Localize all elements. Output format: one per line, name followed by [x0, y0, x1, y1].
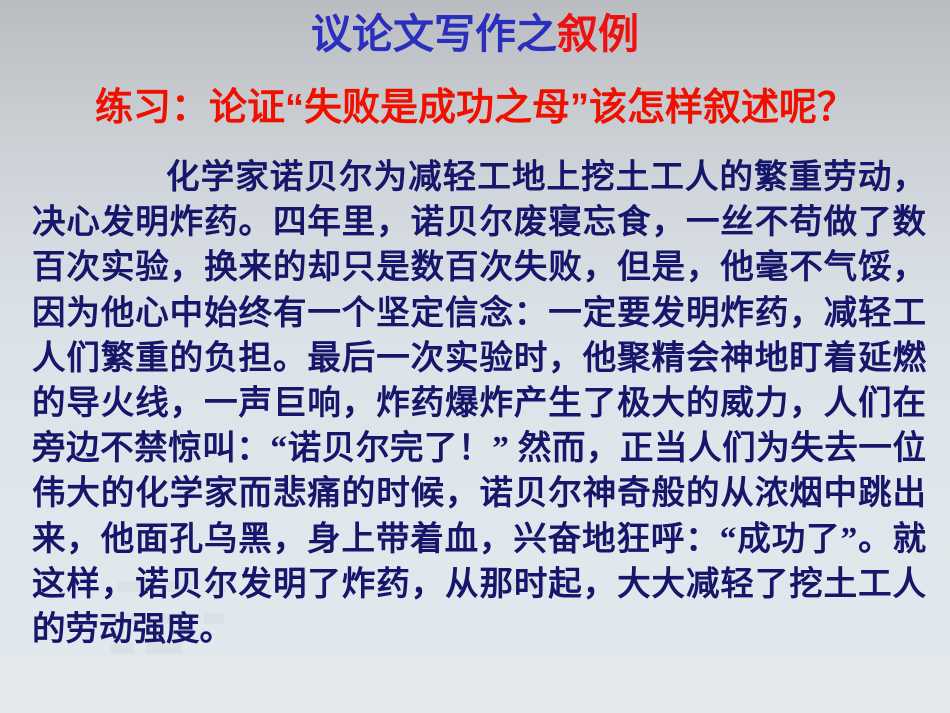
presentation-slide: 议论文写作之叙例 练习：论证“失败是成功之母”该怎样叙述呢？ 化学家诺贝尔为减轻… — [0, 0, 950, 713]
slide-subtitle: 练习：论证“失败是成功之母”该怎样叙述呢？ — [0, 85, 950, 131]
body-paragraph: 化学家诺贝尔为减轻工地上挖土工人的繁重劳动，决心发明炸药。四年里，诺贝尔废寝忘食… — [32, 155, 926, 652]
slide-title-accent: 叙例 — [557, 11, 639, 57]
slide-title: 议论文写作之叙例 — [0, 9, 950, 59]
slide-body-text: 化学家诺贝尔为减轻工地上挖土工人的繁重劳动，决心发明炸药。四年里，诺贝尔废寝忘食… — [32, 155, 926, 652]
slide-title-main: 议论文写作之 — [311, 11, 557, 57]
